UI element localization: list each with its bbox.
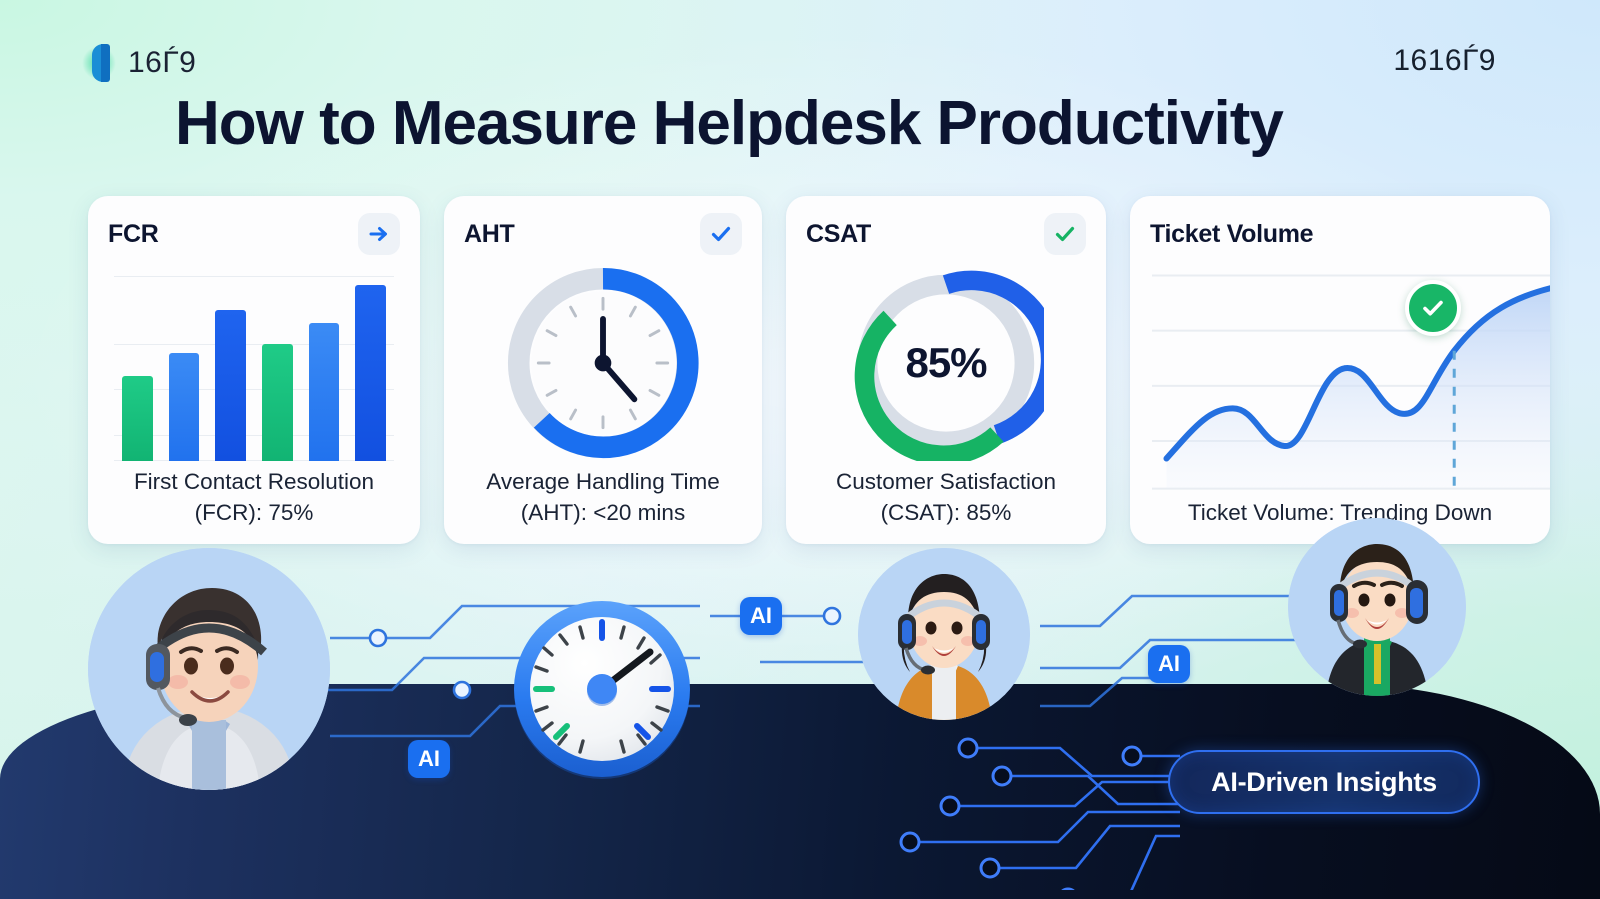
card-fcr[interactable]: FCR First Conta xyxy=(88,196,420,544)
ai-chip-label: AI xyxy=(1158,651,1180,677)
csat-donut: 85% xyxy=(806,258,1086,467)
bar-4 xyxy=(262,344,293,461)
brand-text: 16Ѓ9 xyxy=(128,46,196,80)
leaf-logo-icon xyxy=(88,44,114,82)
ai-driven-insights-badge[interactable]: AI-Driven Insights xyxy=(1168,750,1480,814)
card-ticket-volume[interactable]: Ticket Volume xyxy=(1130,196,1550,544)
aht-clock xyxy=(464,258,742,467)
card-caption-fcr: First Contact Resolution (FCR): 75% xyxy=(108,467,400,530)
ai-chip-2: AI xyxy=(1148,645,1190,683)
ai-chip-1: AI xyxy=(740,597,782,635)
metric-cards-row: FCR First Conta xyxy=(88,196,1600,544)
card-title-csat: CSAT xyxy=(806,220,871,249)
brand-logo: 16Ѓ9 xyxy=(88,44,196,82)
arrow-right-icon[interactable] xyxy=(358,213,400,255)
card-caption-csat: Customer Satisfaction (CSAT): 85% xyxy=(806,467,1086,530)
card-header: FCR xyxy=(108,214,400,254)
check-icon[interactable] xyxy=(1044,213,1086,255)
speed-gauge xyxy=(505,592,699,786)
card-header: Ticket Volume xyxy=(1150,214,1530,254)
card-csat[interactable]: CSAT 85% Customer Satisfaction (CSAT): 8… xyxy=(786,196,1106,544)
bar-group xyxy=(122,272,386,461)
check-icon[interactable] xyxy=(700,213,742,255)
bar-2 xyxy=(169,353,200,461)
avatar-agent-3 xyxy=(1288,518,1466,696)
card-header: AHT xyxy=(464,214,742,254)
bar-6 xyxy=(355,285,386,461)
bar-1 xyxy=(122,376,153,461)
insights-label: AI-Driven Insights xyxy=(1211,767,1437,798)
csat-center-value: 85% xyxy=(848,265,1044,461)
ai-chip-3: AI xyxy=(408,740,450,778)
bar-3 xyxy=(215,310,246,461)
fcr-bar-chart xyxy=(108,258,400,467)
card-title-aht: AHT xyxy=(464,220,514,249)
card-title-ticket-volume: Ticket Volume xyxy=(1150,220,1313,249)
avatar-agent-1 xyxy=(88,548,330,790)
ticket-volume-line-chart xyxy=(1150,258,1530,498)
card-title-fcr: FCR xyxy=(108,220,158,249)
card-header: CSAT xyxy=(806,214,1086,254)
ai-chip-label: AI xyxy=(750,603,772,629)
page-title: How to Measure Helpdesk Productivity xyxy=(175,88,1283,159)
avatar-agent-2 xyxy=(858,548,1030,720)
ai-chip-label: AI xyxy=(418,746,440,772)
check-circle-icon xyxy=(1405,280,1461,336)
card-caption-aht: Average Handling Time (AHT): <20 mins xyxy=(464,467,742,530)
corner-code: 1616Ѓ9 xyxy=(1393,44,1496,78)
bar-5 xyxy=(309,323,340,461)
card-aht[interactable]: AHT xyxy=(444,196,762,544)
